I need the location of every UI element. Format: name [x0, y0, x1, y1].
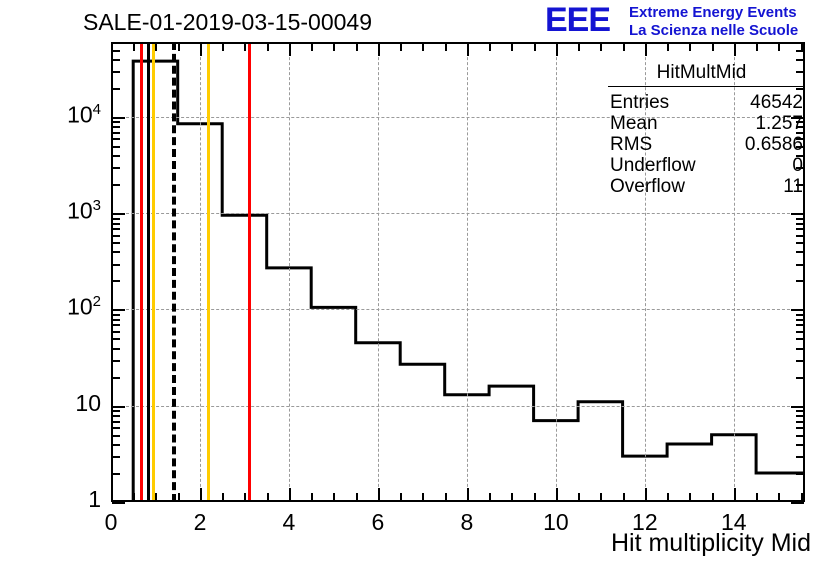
x-axis-tick-top — [333, 43, 335, 51]
y-axis-tick — [112, 50, 120, 52]
x-axis-tick — [422, 493, 424, 501]
y-axis-tick — [112, 59, 120, 61]
x-axis-tick-top — [511, 43, 513, 51]
x-axis-tick-top — [200, 43, 202, 56]
y-axis-tick — [112, 132, 120, 134]
x-axis-tick-top — [155, 43, 157, 51]
y-axis-tick — [112, 146, 120, 148]
y-axis-tick — [112, 309, 125, 311]
y-axis-tick — [112, 223, 120, 225]
y-axis-tick — [112, 251, 120, 253]
y-axis-tick-right — [796, 324, 804, 326]
x-axis-tick-top — [667, 43, 669, 51]
x-axis-tick — [801, 493, 803, 501]
y-axis-tick — [112, 314, 120, 316]
y-axis-tick — [112, 228, 120, 230]
x-axis-tick — [155, 493, 157, 501]
y-axis-tick-right — [791, 406, 804, 408]
x-axis-tick-label: 6 — [348, 509, 408, 536]
y-axis-tick — [112, 444, 120, 446]
x-axis-tick-top — [244, 43, 246, 51]
stats-row: Overflow11 — [610, 176, 803, 198]
y-axis-tick — [112, 435, 120, 437]
x-axis-tick — [756, 493, 758, 501]
x-axis-tick — [578, 493, 580, 501]
y-axis-tick-right — [791, 213, 804, 215]
x-axis-tick-top — [600, 43, 602, 51]
y-axis-tick-right — [796, 228, 804, 230]
y-axis-tick — [112, 377, 120, 379]
y-axis-tick — [112, 406, 125, 408]
x-axis-tick — [356, 493, 358, 501]
stats-key: Overflow — [610, 176, 685, 198]
x-axis-tick — [333, 493, 335, 501]
stats-row: Entries46542 — [610, 92, 803, 114]
y-axis-tick-right — [796, 435, 804, 437]
stats-key: Mean — [610, 113, 658, 135]
eee-logo: EEE Extreme Energy Events La Scienza nel… — [545, 2, 833, 42]
x-axis-tick-top — [778, 43, 780, 51]
stats-key: RMS — [610, 134, 652, 156]
x-axis-tick-top — [534, 43, 536, 51]
eee-logo-mark: EEE — [545, 3, 610, 37]
x-axis-tick — [222, 493, 224, 501]
x-axis-tick — [511, 493, 513, 501]
y-axis-tick-right — [796, 314, 804, 316]
y-axis-tick-right — [796, 338, 804, 340]
stats-row: RMS0.6586 — [610, 134, 803, 156]
x-axis-tick-top — [645, 43, 647, 56]
y-axis-tick-right — [796, 251, 804, 253]
x-axis-tick — [378, 488, 380, 501]
x-axis-tick — [267, 493, 269, 501]
x-axis-tick-top — [133, 43, 135, 51]
x-axis-tick — [445, 493, 447, 501]
y-axis-tick — [112, 502, 125, 504]
stats-box: HitMultMid Entries46542Mean1.257RMS0.658… — [600, 62, 803, 197]
y-axis-tick — [112, 456, 120, 458]
y-axis-tick — [112, 213, 125, 215]
y-axis-tick — [112, 71, 120, 73]
x-axis-tick-top — [178, 43, 180, 51]
eee-logo-line1: Extreme Energy Events — [629, 4, 797, 21]
y-axis-tick-right — [791, 309, 804, 311]
x-axis-tick-label: 0 — [81, 509, 141, 536]
y-axis-tick — [112, 155, 120, 157]
y-axis-tick — [112, 42, 120, 44]
y-axis-tick-right — [796, 218, 804, 220]
y-axis-tick-right — [796, 473, 804, 475]
x-axis-tick-top — [556, 43, 558, 56]
y-axis-tick-right — [796, 360, 804, 362]
y-axis-tick — [112, 421, 120, 423]
x-axis-tick-top — [378, 43, 380, 56]
x-axis-tick — [556, 488, 558, 501]
x-axis-tick-label: 2 — [170, 509, 230, 536]
x-axis-tick — [667, 493, 669, 501]
y-axis-tick — [112, 348, 120, 350]
x-axis-tick — [689, 493, 691, 501]
y-axis-tick-right — [796, 377, 804, 379]
x-axis-tick — [467, 488, 469, 501]
x-axis-tick-top — [623, 43, 625, 51]
x-axis-tick — [712, 493, 714, 501]
x-axis-tick — [645, 488, 647, 501]
y-axis-tick — [112, 319, 120, 321]
x-axis-tick — [244, 493, 246, 501]
y-axis-tick-right — [796, 242, 804, 244]
x-axis-tick-top — [267, 43, 269, 51]
eee-logo-line2: La Scienza nelle Scuole — [629, 22, 798, 39]
y-axis-tick — [112, 280, 120, 282]
x-axis-tick — [734, 488, 736, 501]
y-axis-tick-right — [796, 235, 804, 237]
x-axis-tick — [489, 493, 491, 501]
stats-value: 0.6586 — [745, 134, 803, 156]
y-axis-tick-right — [796, 444, 804, 446]
y-axis-tick-right — [796, 410, 804, 412]
y-axis-tick-right — [796, 415, 804, 417]
y-axis-tick-right — [796, 456, 804, 458]
x-axis-tick — [623, 493, 625, 501]
x-axis-tick-top — [289, 43, 291, 56]
y-axis-tick — [112, 473, 120, 475]
x-axis-tick — [178, 493, 180, 501]
y-axis-tick — [112, 88, 120, 90]
x-axis-tick-top — [689, 43, 691, 51]
y-axis-tick-label: 102 — [29, 293, 101, 321]
stats-row: Underflow0 — [610, 155, 803, 177]
y-axis-tick — [112, 235, 120, 237]
x-axis-tick — [289, 488, 291, 501]
x-axis-tick-top — [489, 43, 491, 51]
x-axis-tick — [400, 493, 402, 501]
x-axis-tick — [111, 488, 113, 501]
y-axis-tick-right — [796, 264, 804, 266]
y-axis-tick-label: 104 — [29, 101, 101, 129]
x-axis-tick — [534, 493, 536, 501]
x-axis-tick — [778, 493, 780, 501]
stats-key: Underflow — [610, 155, 696, 177]
y-axis-tick-label: 10 — [29, 390, 101, 417]
x-axis-tick-top — [222, 43, 224, 51]
stats-value: 0 — [792, 155, 803, 177]
x-axis-tick-top — [311, 43, 313, 51]
x-axis-title: Hit multiplicity Mid — [611, 529, 811, 558]
x-axis-tick — [200, 488, 202, 501]
x-axis-tick-top — [356, 43, 358, 51]
y-axis-tick-right — [791, 502, 804, 504]
y-axis-tick — [112, 360, 120, 362]
stats-value: 11 — [783, 176, 803, 198]
x-axis-tick-top — [734, 43, 736, 56]
stats-value: 46542 — [750, 92, 803, 114]
page-title: SALE-01-2019-03-15-00049 — [83, 9, 372, 36]
y-axis-tick — [112, 331, 120, 333]
y-axis-tick — [112, 427, 120, 429]
y-axis-tick-label: 1 — [29, 486, 101, 513]
y-axis-tick — [112, 184, 120, 186]
x-axis-tick-top — [445, 43, 447, 51]
y-axis-tick-right — [796, 50, 804, 52]
x-axis-tick — [311, 493, 313, 501]
y-axis-tick — [112, 218, 120, 220]
x-axis-tick-top — [712, 43, 714, 51]
x-axis-tick-label: 4 — [259, 509, 319, 536]
stats-title: HitMultMid — [600, 62, 803, 84]
y-axis-tick-right — [796, 421, 804, 423]
y-axis-tick-right — [796, 348, 804, 350]
y-axis-tick-right — [796, 223, 804, 225]
stats-value: 1.257 — [755, 113, 803, 135]
y-axis-tick-right — [796, 59, 804, 61]
y-axis-tick — [112, 242, 120, 244]
y-axis-tick — [112, 338, 120, 340]
x-axis-tick-top — [467, 43, 469, 56]
stats-divider — [608, 86, 803, 87]
y-axis-tick-right — [796, 42, 804, 44]
x-axis-tick-label: 10 — [526, 509, 586, 536]
x-axis-tick-top — [756, 43, 758, 51]
y-axis-tick-right — [796, 280, 804, 282]
x-axis-tick-label: 8 — [437, 509, 497, 536]
y-axis-tick — [112, 415, 120, 417]
y-axis-tick — [112, 264, 120, 266]
x-axis-tick-top — [400, 43, 402, 51]
root-canvas: SALE-01-2019-03-15-00049 EEE Extreme Ene… — [0, 0, 836, 572]
y-axis-tick-right — [796, 319, 804, 321]
y-axis-tick — [112, 324, 120, 326]
y-axis-tick-right — [796, 427, 804, 429]
x-axis-tick-top — [422, 43, 424, 51]
y-axis-tick-right — [796, 331, 804, 333]
x-axis-tick-top — [578, 43, 580, 51]
y-axis-tick — [112, 121, 120, 123]
stats-row: Mean1.257 — [610, 113, 803, 135]
x-axis-tick — [133, 493, 135, 501]
y-axis-tick-label: 103 — [29, 197, 101, 225]
y-axis-tick — [112, 117, 125, 119]
stats-key: Entries — [610, 92, 669, 114]
y-axis-tick — [112, 126, 120, 128]
y-axis-tick — [112, 167, 120, 169]
y-axis-tick — [112, 138, 120, 140]
x-axis-tick — [600, 493, 602, 501]
y-axis-tick — [112, 410, 120, 412]
